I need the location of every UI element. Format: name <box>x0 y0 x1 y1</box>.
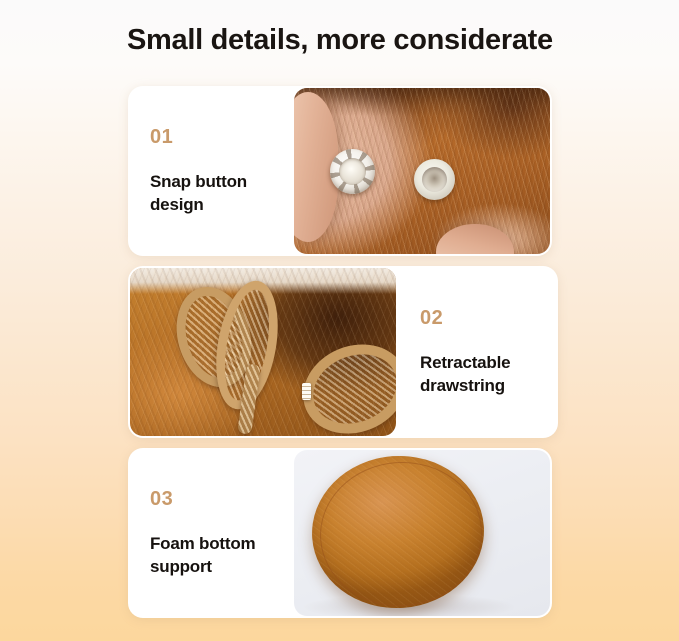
card-number: 03 <box>150 488 294 511</box>
infographic-page: Small details, more considerate 01 Snap … <box>0 0 679 641</box>
card-photo-drawstring <box>130 268 396 436</box>
feature-card-foam-bottom: 03 Foam bottom support <box>128 448 552 618</box>
card-label: Retractable drawstring <box>420 352 558 397</box>
card-label: Snap button design <box>150 171 294 216</box>
feature-card-snap-button: 01 Snap button design <box>128 86 552 256</box>
card-photo-snap-button <box>294 88 550 254</box>
snap-button-socket-icon <box>330 149 375 194</box>
card-label: Foam bottom support <box>150 533 294 578</box>
card-text-pane: 02 Retractable drawstring <box>396 266 558 438</box>
card-number: 02 <box>420 307 558 330</box>
card-text-pane: 03 Foam bottom support <box>128 448 294 618</box>
card-number: 01 <box>150 126 294 149</box>
card-photo-foam-bottom <box>294 450 550 616</box>
snap-button-stud-icon <box>414 159 455 200</box>
feature-card-drawstring: 02 Retractable drawstring <box>128 266 558 438</box>
card-text-pane: 01 Snap button design <box>128 86 294 256</box>
fabric-tag <box>302 383 311 400</box>
page-title: Small details, more considerate <box>127 24 553 57</box>
